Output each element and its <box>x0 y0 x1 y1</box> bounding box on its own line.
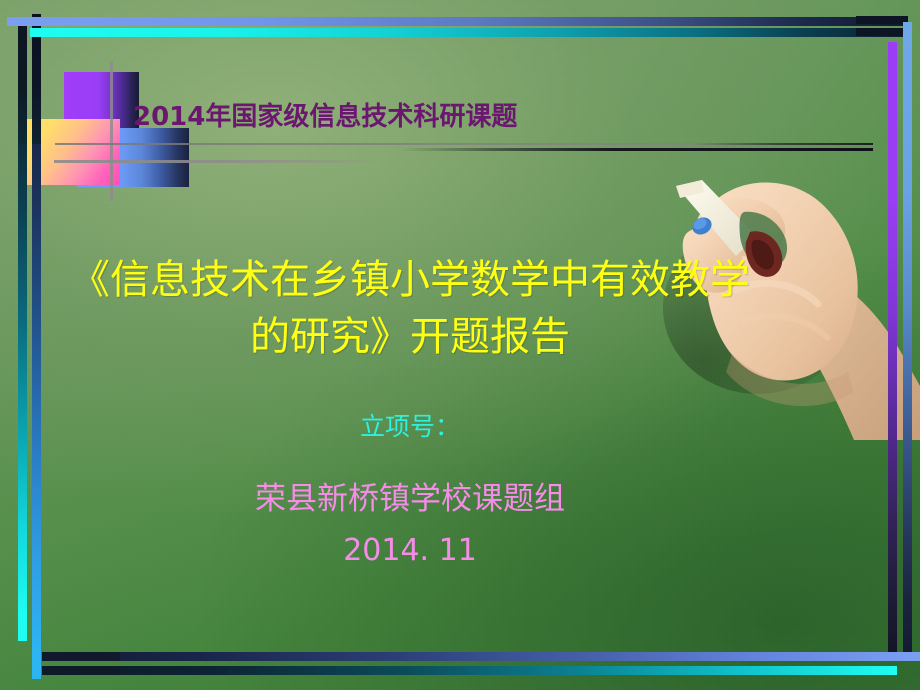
top-right-dark-accent-1 <box>856 16 908 24</box>
bottom-blue-bar <box>42 652 920 661</box>
right-blue-bar <box>903 22 912 660</box>
project-number-label: 立项号： <box>60 407 760 443</box>
slide-main-title: 《信息技术在乡镇小学数学中有效教学的研究》开题报告 <box>60 252 760 366</box>
header-title: 2014年国家级信息技术科研课题 <box>133 96 517 133</box>
bottom-cyan-bar <box>42 666 897 675</box>
presentation-date: 2014. 11 <box>60 533 760 568</box>
organization-name: 荣县新桥镇学校课题组 <box>60 473 760 518</box>
top-left-dark-accent-1 <box>18 24 27 144</box>
header-divider-dark <box>400 148 873 151</box>
presentation-slide: 2014年国家级信息技术科研课题 《信息技术在乡镇小学数学中有效教学的研究》开题… <box>0 0 920 690</box>
top-blue-bar <box>7 17 908 26</box>
header-divider <box>55 143 873 145</box>
crosshair-horizontal <box>54 160 374 163</box>
bottom-left-dark-accent-2 <box>42 666 120 675</box>
top-right-dark-accent-2 <box>856 28 908 36</box>
right-purple-bar <box>888 42 897 660</box>
top-cyan-bar <box>30 28 908 37</box>
crosshair-vertical <box>110 61 113 201</box>
bottom-left-dark-accent-1 <box>42 652 120 661</box>
